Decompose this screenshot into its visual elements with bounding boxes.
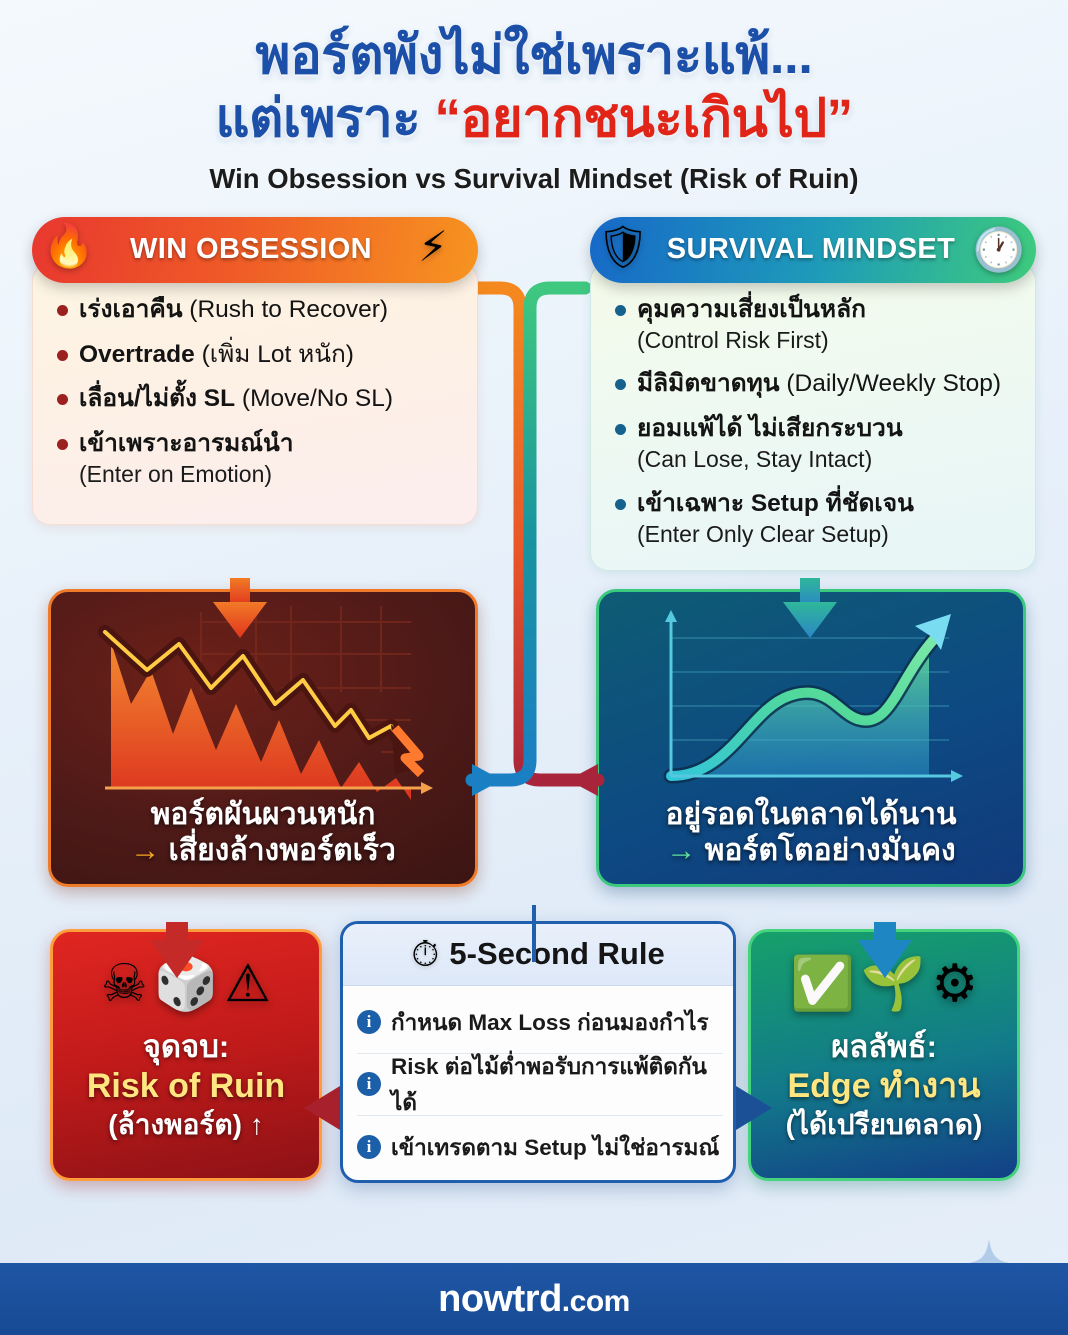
- shield-icon: 🛡: [592, 216, 654, 278]
- bullet-dot-icon: [615, 499, 626, 510]
- warning-triangle-icon: ⚠: [224, 958, 271, 1010]
- chart-caption-line-1: อยู่รอดในตลาดได้นาน: [599, 797, 1023, 834]
- footer-brand[interactable]: nowtrd.com: [438, 1278, 630, 1321]
- bullet-thai: เร่งเอาคืน: [79, 296, 182, 323]
- footer: nowtrd.com: [0, 1263, 1068, 1335]
- rule-item-text: กำหนด Max Loss ก่อนมองกำไร: [391, 1004, 709, 1040]
- check-circle-icon: ✅: [790, 958, 855, 1010]
- outcome-row: ☠ 🎲 ⚠ จุดจบ: Risk of Ruin (ล้างพอร์ต) ↑ …: [0, 929, 1068, 1191]
- bullet-thai: เข้าเฉพาะ Setup ที่ชัดเจน: [637, 490, 914, 517]
- bullet-thai: มีลิมิตขาดทุน: [637, 370, 780, 397]
- brand-domain: .com: [562, 1285, 630, 1318]
- list-item: คุมความเสี่ยงเป็นหลัก (Control Risk Firs…: [609, 294, 1017, 356]
- list-item: i กำหนด Max Loss ก่อนมองกำไร: [357, 992, 723, 1054]
- info-icon: i: [357, 1010, 381, 1034]
- list-card-survival-mindset: คุมความเสี่ยงเป็นหลัก (Control Risk Firs…: [590, 263, 1036, 571]
- pill-survival-mindset-label: SURVIVAL MINDSET: [654, 233, 968, 266]
- bullet-thai: คุมความเสี่ยงเป็นหลัก: [637, 296, 866, 323]
- chart-caption-win-obsession: พอร์ตผันผวนหนัก → เสี่ยงล้างพอร์ตเร็ว: [51, 797, 475, 870]
- rule-card-title: 5-Second Rule: [449, 936, 664, 972]
- dice-icon: 🎲: [154, 958, 219, 1010]
- brand-name: nowtrd: [438, 1278, 562, 1320]
- bullet-dot-icon: [615, 424, 626, 435]
- outcome-headline: Risk of Ruin: [87, 1065, 285, 1108]
- lightning-bolt-icon: ⚡: [402, 216, 464, 278]
- rule-card-header: ⏱ 5-Second Rule: [343, 924, 733, 986]
- info-icon: i: [357, 1072, 381, 1096]
- bullet-thai: ยอมแพ้ได้ ไม่เสียกระบวน: [637, 415, 903, 442]
- outcome-label: ผลลัพธ์:: [786, 1028, 983, 1065]
- clock-icon: 🕐: [968, 219, 1030, 281]
- outcome-headline: Edge ทำงาน: [786, 1065, 983, 1108]
- seedling-in-hand-icon: 🌱: [861, 958, 926, 1010]
- fire-icon: 🔥: [38, 215, 100, 277]
- chart-row: พอร์ตผันผวนหนัก → เสี่ยงล้างพอร์ตเร็ว: [0, 589, 1068, 889]
- list-item: ยอมแพ้ได้ ไม่เสียกระบวน (Can Lose, Stay …: [609, 413, 1017, 475]
- title-line-1: พอร์ตพังไม่ใช่เพราะแพ้...: [0, 26, 1068, 85]
- list-item: เร่งเอาคืน (Rush to Recover): [51, 294, 459, 326]
- chart-caption-line-1: พอร์ตผันผวนหนัก: [51, 797, 475, 834]
- gear-icon: ⚙: [931, 958, 978, 1010]
- pill-win-obsession-label: WIN OBSESSION: [100, 233, 402, 266]
- bullet-dot-icon: [57, 350, 68, 361]
- list-item: มีลิมิตขาดทุน (Daily/Weekly Stop): [609, 368, 1017, 400]
- column-win-obsession: 🔥 WIN OBSESSION ⚡ เร่งเอาคืน (Rush to Re…: [32, 217, 478, 525]
- rule-card-list: i กำหนด Max Loss ก่อนมองกำไร i Risk ต่อไ…: [343, 986, 733, 1178]
- chart-caption-survival-mindset: อยู่รอดในตลาดได้นาน → พอร์ตโตอย่างมั่นคง: [599, 797, 1023, 870]
- list-item: i Risk ต่อไม้ต่ำพอรับการแพ้ติดกันได้: [357, 1054, 723, 1116]
- list-item: เข้าเพราะอารมณ์นำ (Enter on Emotion): [51, 428, 459, 490]
- subtitle: Win Obsession vs Survival Mindset (Risk …: [0, 163, 1068, 195]
- bullet-dot-icon: [57, 394, 68, 405]
- bullet-dot-icon: [615, 305, 626, 316]
- pill-survival-mindset[interactable]: 🛡 SURVIVAL MINDSET 🕐: [590, 217, 1036, 283]
- rule-item-text: Risk ต่อไม้ต่ำพอรับการแพ้ติดกันได้: [391, 1048, 723, 1120]
- list-item: Overtrade (เพิ่ม Lot หนัก): [51, 339, 459, 371]
- header: พอร์ตพังไม่ใช่เพราะแพ้... แต่เพราะ “อยาก…: [0, 0, 1068, 195]
- title-line-2: แต่เพราะ “อยากชนะเกินไป”: [0, 89, 1068, 148]
- list-item: เลื่อน/ไม่ตั้ง SL (Move/No SL): [51, 383, 459, 415]
- stopwatch-icon: ⏱: [411, 936, 439, 972]
- title-line-2-highlight: “อยากชนะเกินไป”: [434, 89, 852, 148]
- title-line-2-prefix: แต่เพราะ: [215, 89, 434, 148]
- outcome-label: จุดจบ:: [87, 1028, 285, 1065]
- bullet-en: (Daily/Weekly Stop): [780, 370, 1001, 397]
- bullet-sub: (Control Risk First): [637, 326, 866, 356]
- bullet-en: (Move/No SL): [235, 385, 393, 412]
- bullet-dot-icon: [615, 379, 626, 390]
- chart-caption-line-2: เสี่ยงล้างพอร์ตเร็ว: [169, 834, 396, 867]
- comparison-columns: 🔥 WIN OBSESSION ⚡ เร่งเอาคืน (Rush to Re…: [0, 217, 1068, 577]
- bullet-dot-icon: [57, 305, 68, 316]
- bullet-thai: เข้าเพราะอารมณ์นำ: [79, 430, 294, 457]
- outcome-card-edge-works: ✅ 🌱 ⚙ ผลลัพธ์: Edge ทำงาน (ได้เปรียบตลาด…: [748, 929, 1020, 1181]
- outcome-card-risk-of-ruin: ☠ 🎲 ⚠ จุดจบ: Risk of Ruin (ล้างพอร์ต) ↑: [50, 929, 322, 1181]
- bullet-sub: (Enter on Emotion): [79, 460, 294, 490]
- arrow-right-icon: →: [666, 834, 696, 867]
- arrow-right-icon: →: [130, 834, 160, 867]
- chart-caption-line-2: พอร์ตโตอย่างมั่นคง: [705, 834, 956, 867]
- pill-win-obsession[interactable]: 🔥 WIN OBSESSION ⚡: [32, 217, 478, 283]
- bullet-dot-icon: [57, 439, 68, 450]
- list-item: i เข้าเทรดตาม Setup ไม่ใช่อารมณ์: [357, 1116, 723, 1178]
- bullet-thai: เลื่อน/ไม่ตั้ง SL: [79, 385, 235, 412]
- outcome-note: (ได้เปรียบตลาด): [786, 1107, 983, 1142]
- bullet-en: (เพิ่ม Lot หนัก): [195, 341, 354, 368]
- outcome-note: (ล้างพอร์ต) ↑: [87, 1107, 285, 1142]
- bullet-thai: Overtrade: [79, 341, 195, 368]
- bullet-sub: (Enter Only Clear Setup): [637, 520, 914, 550]
- skull-and-crossbones-icon: ☠: [101, 958, 148, 1010]
- rule-item-text: เข้าเทรดตาม Setup ไม่ใช่อารมณ์: [391, 1129, 719, 1165]
- bullet-en: (Rush to Recover): [182, 296, 388, 323]
- column-survival-mindset: 🛡 SURVIVAL MINDSET 🕐 คุมความเสี่ยงเป็นหล…: [590, 217, 1036, 571]
- list-item: เข้าเฉพาะ Setup ที่ชัดเจน (Enter Only Cl…: [609, 488, 1017, 550]
- five-second-rule-card: ⏱ 5-Second Rule i กำหนด Max Loss ก่อนมอง…: [340, 921, 736, 1183]
- chart-card-win-obsession: พอร์ตผันผวนหนัก → เสี่ยงล้างพอร์ตเร็ว: [48, 589, 478, 887]
- info-icon: i: [357, 1135, 381, 1159]
- list-card-win-obsession: เร่งเอาคืน (Rush to Recover) Overtrade (…: [32, 263, 478, 525]
- chart-card-survival-mindset: อยู่รอดในตลาดได้นาน → พอร์ตโตอย่างมั่นคง: [596, 589, 1026, 887]
- bullet-sub: (Can Lose, Stay Intact): [637, 445, 903, 475]
